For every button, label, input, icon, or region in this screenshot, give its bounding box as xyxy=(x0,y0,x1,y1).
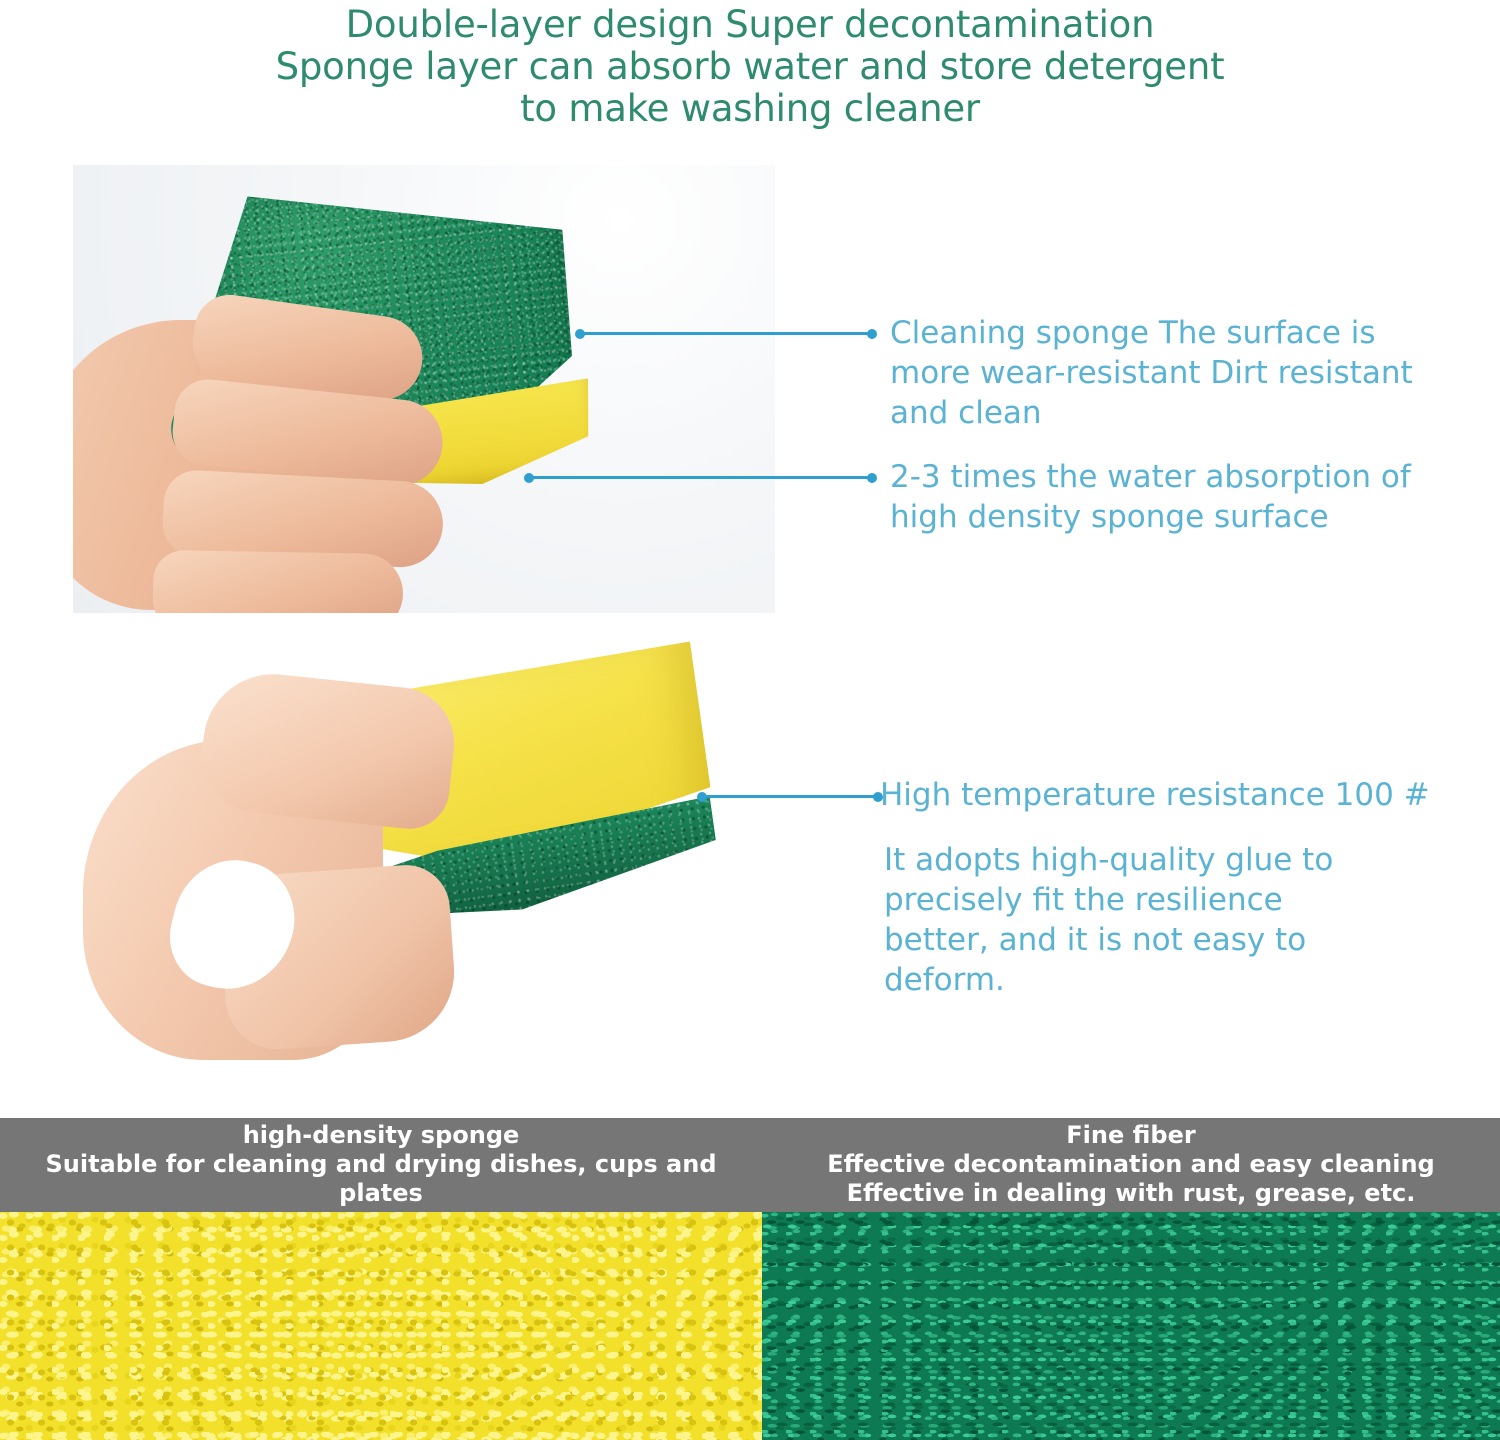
hand-illustration-top xyxy=(73,280,463,613)
callout-high-temperature-resistance: High temperature resistance 100 # xyxy=(880,775,1490,815)
yellow-sponge-texture xyxy=(0,1212,762,1440)
connector-dot-end xyxy=(867,473,877,483)
headline-line-1: Double-layer design Super decontaminatio… xyxy=(0,4,1500,46)
callout-line: high density sponge surface xyxy=(890,497,1480,537)
callout-line: more wear-resistant Dirt resistant xyxy=(890,353,1480,393)
headline-line-2: Sponge layer can absorb water and store … xyxy=(0,46,1500,88)
connector-dot-end xyxy=(867,329,877,339)
finger-4 xyxy=(152,550,403,613)
caption-fine-fiber: Fine fiber Effective decontamination and… xyxy=(762,1118,1500,1212)
caption-title: Fine fiber xyxy=(762,1121,1500,1150)
connector-dot-start xyxy=(575,329,585,339)
page-title: Double-layer design Super decontaminatio… xyxy=(0,0,1500,130)
caption-high-density-sponge: high-density sponge Suitable for cleanin… xyxy=(0,1118,762,1212)
callout-water-absorption: 2-3 times the water absorption of high d… xyxy=(890,457,1480,537)
caption-line: Effective decontamination and easy clean… xyxy=(762,1150,1500,1179)
product-photo-yellow-sponge-side xyxy=(73,640,775,1088)
callout-line: Cleaning sponge The surface is xyxy=(890,313,1480,353)
callout-line: It adopts high-quality glue to xyxy=(884,840,1404,880)
caption-line: Effective in dealing with rust, grease, … xyxy=(762,1179,1500,1208)
callout-cleaning-sponge-surface: Cleaning sponge The surface is more wear… xyxy=(890,313,1480,433)
callout-line: precisely fit the resilience xyxy=(884,880,1404,920)
callout-line: deform. xyxy=(884,960,1404,1000)
callout-connector-line-1 xyxy=(578,332,874,335)
hand-illustration-bottom xyxy=(83,680,483,1070)
callout-connector-line-3 xyxy=(700,795,880,798)
green-fiber-texture xyxy=(762,1212,1500,1440)
connector-dot-start xyxy=(697,792,707,802)
callout-high-quality-glue: It adopts high-quality glue to precisely… xyxy=(884,840,1404,1000)
callout-line: 2-3 times the water absorption of xyxy=(890,457,1480,497)
connector-dot-start xyxy=(524,473,534,483)
caption-line: Suitable for cleaning and drying dishes,… xyxy=(0,1150,762,1208)
callout-connector-line-2 xyxy=(527,476,874,479)
caption-title: high-density sponge xyxy=(0,1121,762,1150)
material-comparison-strip: high-density sponge Suitable for cleanin… xyxy=(0,1118,1500,1440)
callout-line: and clean xyxy=(890,393,1480,433)
headline-line-3: to make washing cleaner xyxy=(0,88,1500,130)
callout-line: High temperature resistance 100 # xyxy=(880,775,1490,815)
product-photo-green-scrub-side xyxy=(73,165,775,613)
callout-line: better, and it is not easy to xyxy=(884,920,1404,960)
